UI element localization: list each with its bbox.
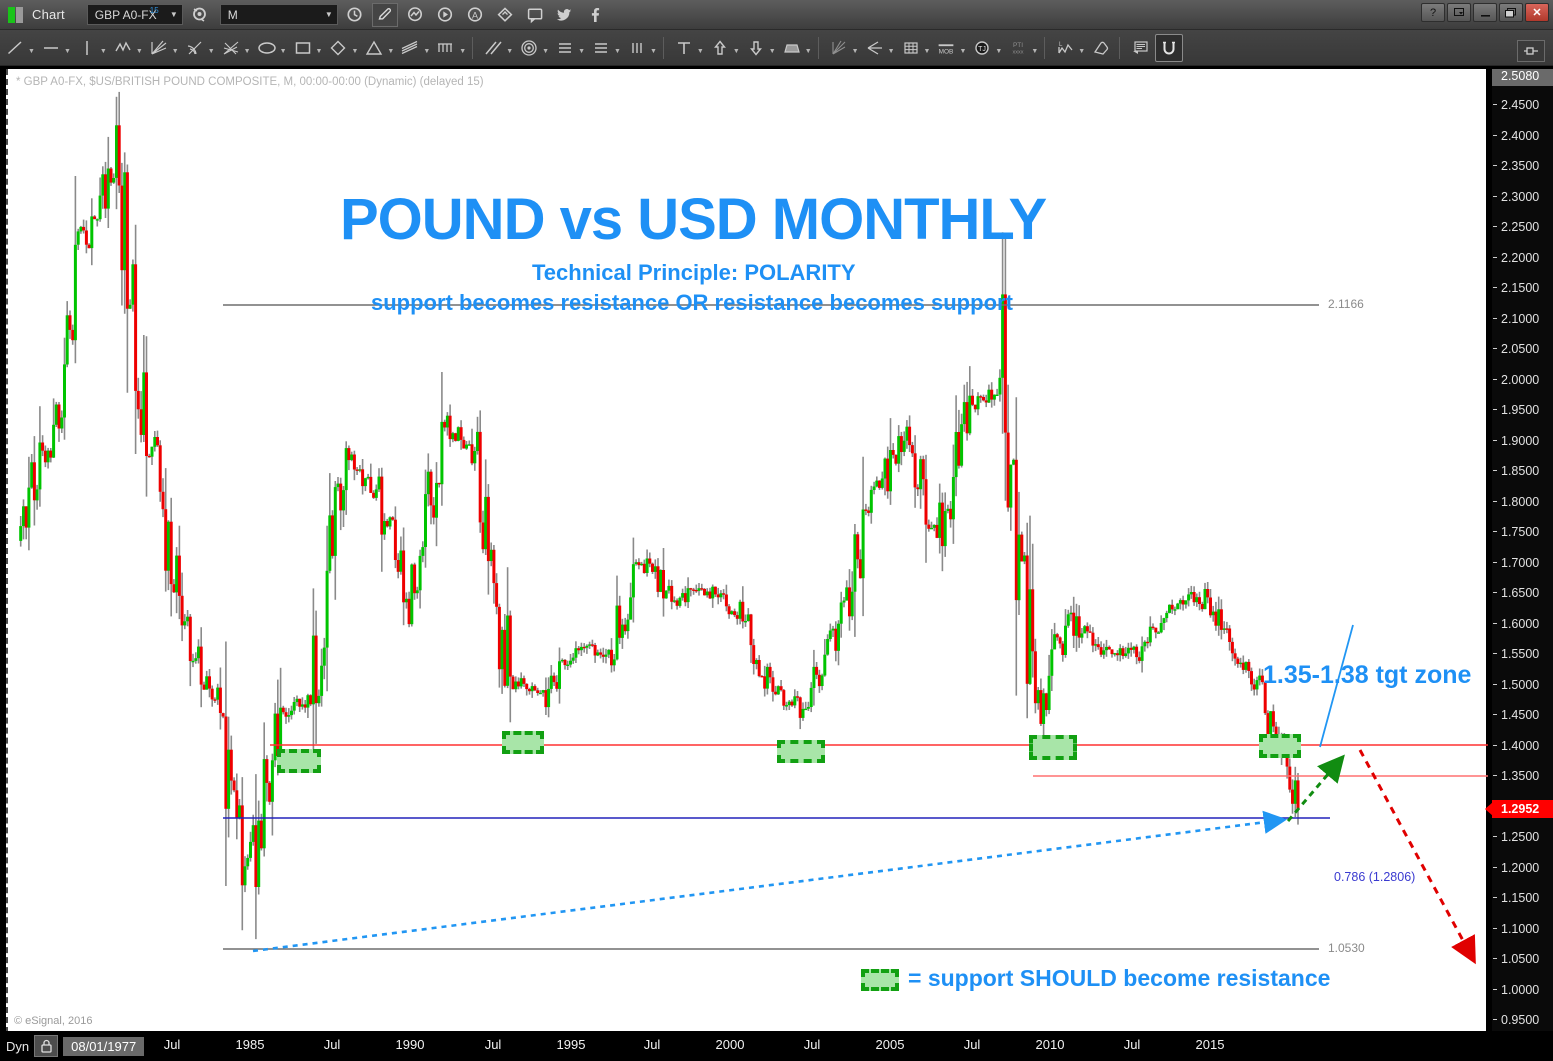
toolbar-divider bbox=[472, 37, 473, 59]
toolbar-divider bbox=[663, 37, 664, 59]
chart-canvas[interactable]: * GBP A0-FX, $US/BRITISH POUND COMPOSITE… bbox=[6, 69, 1486, 1033]
text-icon[interactable]: ▼ bbox=[671, 34, 705, 62]
time-tick: 1990 bbox=[396, 1037, 425, 1052]
pencil-icon[interactable] bbox=[372, 3, 398, 27]
rectangle-icon[interactable]: ▼ bbox=[290, 34, 324, 62]
zigzag-icon[interactable]: ▼ bbox=[110, 34, 144, 62]
legend-swatch-box bbox=[861, 969, 899, 991]
toolbar-divider bbox=[818, 37, 819, 59]
price-tick: 1.3500 bbox=[1492, 769, 1553, 783]
level-label-low: 1.0530 bbox=[1328, 941, 1365, 955]
vertical-line-icon[interactable]: ▼ bbox=[74, 34, 108, 62]
fib-fan-icon[interactable]: ▼ bbox=[146, 34, 180, 62]
andrews-icon[interactable]: ▼ bbox=[862, 34, 896, 62]
drawing-toolbar: ▼ ▼ ▼ ▼ ▼ ▼ ▼ ▼ ▼ ▼ ▼ ▼ ▼ ▼ ▼ ▼ ▼ ▼ ▼ ▼ … bbox=[0, 30, 1553, 66]
legend-text: = support SHOULD become resistance bbox=[908, 965, 1330, 992]
interval-value: M bbox=[228, 8, 238, 22]
chevron-down-icon[interactable]: ▼ bbox=[162, 10, 178, 19]
price-tick: 2.2500 bbox=[1492, 220, 1553, 234]
toolbar-divider bbox=[1044, 37, 1045, 59]
refresh-icon[interactable] bbox=[187, 3, 213, 27]
support-zone-box bbox=[502, 731, 544, 754]
last-price-marker: 1.2952 bbox=[1492, 800, 1553, 818]
play-icon[interactable] bbox=[432, 3, 458, 27]
price-tick: 2.0500 bbox=[1492, 342, 1553, 356]
undo-icon[interactable] bbox=[1155, 34, 1183, 62]
lock-icon[interactable] bbox=[34, 1035, 58, 1057]
time-tick: Jul bbox=[964, 1037, 981, 1052]
price-tick: 2.4000 bbox=[1492, 129, 1553, 143]
copyright-text: © eSignal, 2016 bbox=[14, 1015, 92, 1027]
cycle-lines-icon[interactable]: ▼ bbox=[624, 34, 658, 62]
interval-select[interactable]: M ▼ bbox=[220, 4, 338, 25]
speed-lines-icon[interactable]: ▼ bbox=[480, 34, 514, 62]
horizontal-bands-icon[interactable]: ▼ bbox=[552, 34, 586, 62]
clock-icon[interactable] bbox=[342, 3, 368, 27]
ellipse-icon[interactable]: ▼ bbox=[254, 34, 288, 62]
chart-title-annotation: POUND vs USD MONTHLY bbox=[340, 186, 1046, 253]
diamond-shape-icon[interactable]: ▼ bbox=[325, 34, 359, 62]
support-zone-box bbox=[777, 740, 825, 763]
support-zone-box bbox=[1259, 734, 1301, 758]
time-tick: 2010 bbox=[1036, 1037, 1065, 1052]
time-axis[interactable]: Dyn 08/01/1977 Jul1985Jul1990Jul1995Jul2… bbox=[0, 1031, 1553, 1061]
price-tick: 1.0500 bbox=[1492, 952, 1553, 966]
svg-text:TJ: TJ bbox=[978, 46, 986, 53]
svg-text:xxxx: xxxx bbox=[1013, 49, 1024, 55]
price-tick: 1.2000 bbox=[1492, 861, 1553, 875]
support-zone-box bbox=[1029, 735, 1077, 760]
price-axis[interactable]: 2.5080 1.2952 2.45002.40002.35002.30002.… bbox=[1492, 69, 1553, 1031]
esignal-chart-window: Chart GBP A0-FX 15 ▼ M ▼ A bbox=[0, 0, 1553, 1061]
start-date-label: 08/01/1977 bbox=[63, 1037, 144, 1056]
parallel-lines-icon[interactable]: ▼ bbox=[397, 34, 431, 62]
price-tick: 2.0000 bbox=[1492, 373, 1553, 387]
svg-text:PTI: PTI bbox=[1013, 42, 1023, 49]
price-tick: 1.1000 bbox=[1492, 922, 1553, 936]
pti-icon[interactable]: PTIxxxx▼ bbox=[1005, 34, 1039, 62]
tj-icon[interactable]: TJ▼ bbox=[969, 34, 1003, 62]
annotation-icon[interactable] bbox=[1127, 34, 1153, 62]
gann-circle-icon[interactable]: ▼ bbox=[516, 34, 550, 62]
pin-toolbar-button[interactable] bbox=[1517, 40, 1545, 62]
price-tick: 1.9000 bbox=[1492, 434, 1553, 448]
fib-spiral-icon[interactable]: ▼ bbox=[218, 34, 252, 62]
time-tick: Jul bbox=[804, 1037, 821, 1052]
time-tick: 1985 bbox=[236, 1037, 265, 1052]
subtitle-polarity: support becomes resistance OR resistance… bbox=[371, 290, 1013, 316]
symbol-delay-badge: 15 bbox=[150, 6, 159, 15]
price-tick: 2.3500 bbox=[1492, 159, 1553, 173]
chart-panel: * GBP A0-FX, $US/BRITISH POUND COMPOSITE… bbox=[0, 66, 1553, 1061]
subtitle-principle: Technical Principle: POLARITY bbox=[532, 260, 856, 286]
maximize-button[interactable] bbox=[1499, 3, 1523, 22]
price-tick: 2.3000 bbox=[1492, 190, 1553, 204]
diamond-icon[interactable] bbox=[492, 3, 518, 27]
dyn-label: Dyn bbox=[6, 1039, 29, 1054]
price-tick: 1.7000 bbox=[1492, 556, 1553, 570]
price-tick: 1.2500 bbox=[1492, 830, 1553, 844]
chart-refresh-icon[interactable] bbox=[402, 3, 428, 27]
arrow-up-icon[interactable]: ▼ bbox=[707, 34, 741, 62]
fib-level-label: 0.786 (1.2806) bbox=[1334, 870, 1415, 884]
alert-icon[interactable]: A bbox=[462, 3, 488, 27]
price-axis-top-value: 2.5080 bbox=[1492, 69, 1553, 86]
price-tick: 2.2000 bbox=[1492, 251, 1553, 265]
title-bar: Chart GBP A0-FX 15 ▼ M ▼ A bbox=[0, 0, 1553, 30]
arrow-down-icon[interactable]: ▼ bbox=[743, 34, 777, 62]
price-tick: 1.5000 bbox=[1492, 678, 1553, 692]
app-logo-icon bbox=[8, 7, 26, 23]
target-zone-annotation: 1.35-1.38 tgt zone bbox=[1263, 661, 1471, 690]
triangle-icon[interactable]: ▼ bbox=[361, 34, 395, 62]
time-tick: 2000 bbox=[716, 1037, 745, 1052]
symbol-value: GBP A0-FX bbox=[95, 8, 157, 22]
time-tick: 2015 bbox=[1196, 1037, 1225, 1052]
twitter-icon[interactable] bbox=[552, 3, 578, 27]
app-title: Chart bbox=[32, 7, 65, 22]
time-tick: 1995 bbox=[557, 1037, 586, 1052]
time-tick: 2005 bbox=[876, 1037, 905, 1052]
price-tick: 2.1500 bbox=[1492, 281, 1553, 295]
price-tick: 1.6500 bbox=[1492, 586, 1553, 600]
gann-fan-icon[interactable]: ▼ bbox=[826, 34, 860, 62]
close-button[interactable]: ✕ bbox=[1525, 3, 1549, 22]
price-tick: 1.8000 bbox=[1492, 495, 1553, 509]
time-tick: Jul bbox=[1124, 1037, 1141, 1052]
symbol-input[interactable]: GBP A0-FX 15 ▼ bbox=[87, 4, 183, 25]
price-tick: 0.9500 bbox=[1492, 1013, 1553, 1027]
trendline-icon[interactable]: ▼ bbox=[2, 34, 36, 62]
toolbar-divider bbox=[1119, 37, 1120, 59]
minimize-button[interactable] bbox=[1473, 3, 1497, 22]
time-tick: Jul bbox=[644, 1037, 661, 1052]
regression-icon[interactable]: ▼ bbox=[588, 34, 622, 62]
comment-icon[interactable] bbox=[522, 3, 548, 27]
chart-header-text: * GBP A0-FX, $US/BRITISH POUND COMPOSITE… bbox=[16, 76, 484, 88]
price-tick: 1.4000 bbox=[1492, 739, 1553, 753]
svg-text:A: A bbox=[472, 10, 478, 20]
time-tick: Jul bbox=[324, 1037, 341, 1052]
mob-icon[interactable]: MOB▼ bbox=[933, 34, 967, 62]
price-tick: 1.8500 bbox=[1492, 464, 1553, 478]
price-tick: 1.7500 bbox=[1492, 525, 1553, 539]
restore-down-button[interactable] bbox=[1447, 3, 1471, 22]
svg-text:MOB: MOB bbox=[939, 48, 954, 55]
shade-icon[interactable]: ▼ bbox=[779, 34, 813, 62]
price-tick: 1.1500 bbox=[1492, 891, 1553, 905]
pitchfork-icon[interactable]: ▼ bbox=[433, 34, 467, 62]
price-tick: 1.5500 bbox=[1492, 647, 1553, 661]
window-controls: ? ✕ bbox=[1421, 3, 1549, 22]
price-tick: 2.1000 bbox=[1492, 312, 1553, 326]
chevron-down-icon[interactable]: ▼ bbox=[317, 10, 333, 19]
price-tick: 1.9500 bbox=[1492, 403, 1553, 417]
grid-icon[interactable]: ▼ bbox=[898, 34, 932, 62]
time-tick: Jul bbox=[164, 1037, 181, 1052]
facebook-icon[interactable] bbox=[582, 3, 608, 27]
horizontal-line-icon[interactable]: ▼ bbox=[38, 34, 72, 62]
price-tick: 1.4500 bbox=[1492, 708, 1553, 722]
fib-arc-icon[interactable]: ▼ bbox=[182, 34, 216, 62]
time-tick: Jul bbox=[485, 1037, 502, 1052]
wave-icon[interactable]: L▼ bbox=[1052, 34, 1086, 62]
price-tick: 1.6000 bbox=[1492, 617, 1553, 631]
support-zone-box bbox=[277, 749, 321, 773]
help-button[interactable]: ? bbox=[1421, 3, 1445, 22]
eraser-icon[interactable] bbox=[1088, 34, 1114, 62]
level-label-high: 2.1166 bbox=[1328, 297, 1364, 311]
price-tick: 2.4500 bbox=[1492, 98, 1553, 112]
price-tick: 1.0000 bbox=[1492, 983, 1553, 997]
